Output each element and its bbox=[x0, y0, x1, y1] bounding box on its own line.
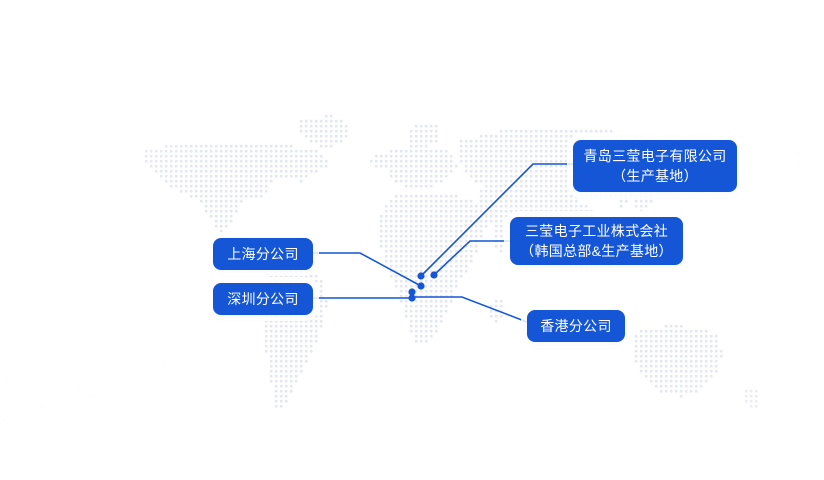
label-shanghai-line1: 上海分公司 bbox=[227, 244, 299, 264]
label-qingdao-line1: 青岛三莹电子有限公司 bbox=[584, 146, 727, 166]
world-map-diagram: 青岛三莹电子有限公司 （生产基地） 三莹电子工业株式会社 （韩国总部&生产基地）… bbox=[0, 0, 824, 480]
label-qingdao[interactable]: 青岛三莹电子有限公司 （生产基地） bbox=[573, 140, 737, 192]
label-hongkong[interactable]: 香港分公司 bbox=[527, 310, 625, 342]
label-hongkong-line1: 香港分公司 bbox=[540, 316, 612, 336]
label-shenzhen-line1: 深圳分公司 bbox=[227, 289, 299, 309]
label-korea-hq-line1: 三莹电子工业株式会社 bbox=[525, 221, 668, 241]
world-map-background bbox=[0, 0, 824, 480]
label-korea-hq-line2: （韩国总部&生产基地） bbox=[520, 241, 673, 261]
label-shanghai[interactable]: 上海分公司 bbox=[213, 238, 313, 270]
label-korea-hq[interactable]: 三莹电子工业株式会社 （韩国总部&生产基地） bbox=[510, 217, 683, 265]
dotted-world-map-canvas bbox=[0, 0, 824, 480]
label-shenzhen[interactable]: 深圳分公司 bbox=[213, 283, 313, 315]
label-qingdao-line2: （生产基地） bbox=[612, 166, 698, 186]
